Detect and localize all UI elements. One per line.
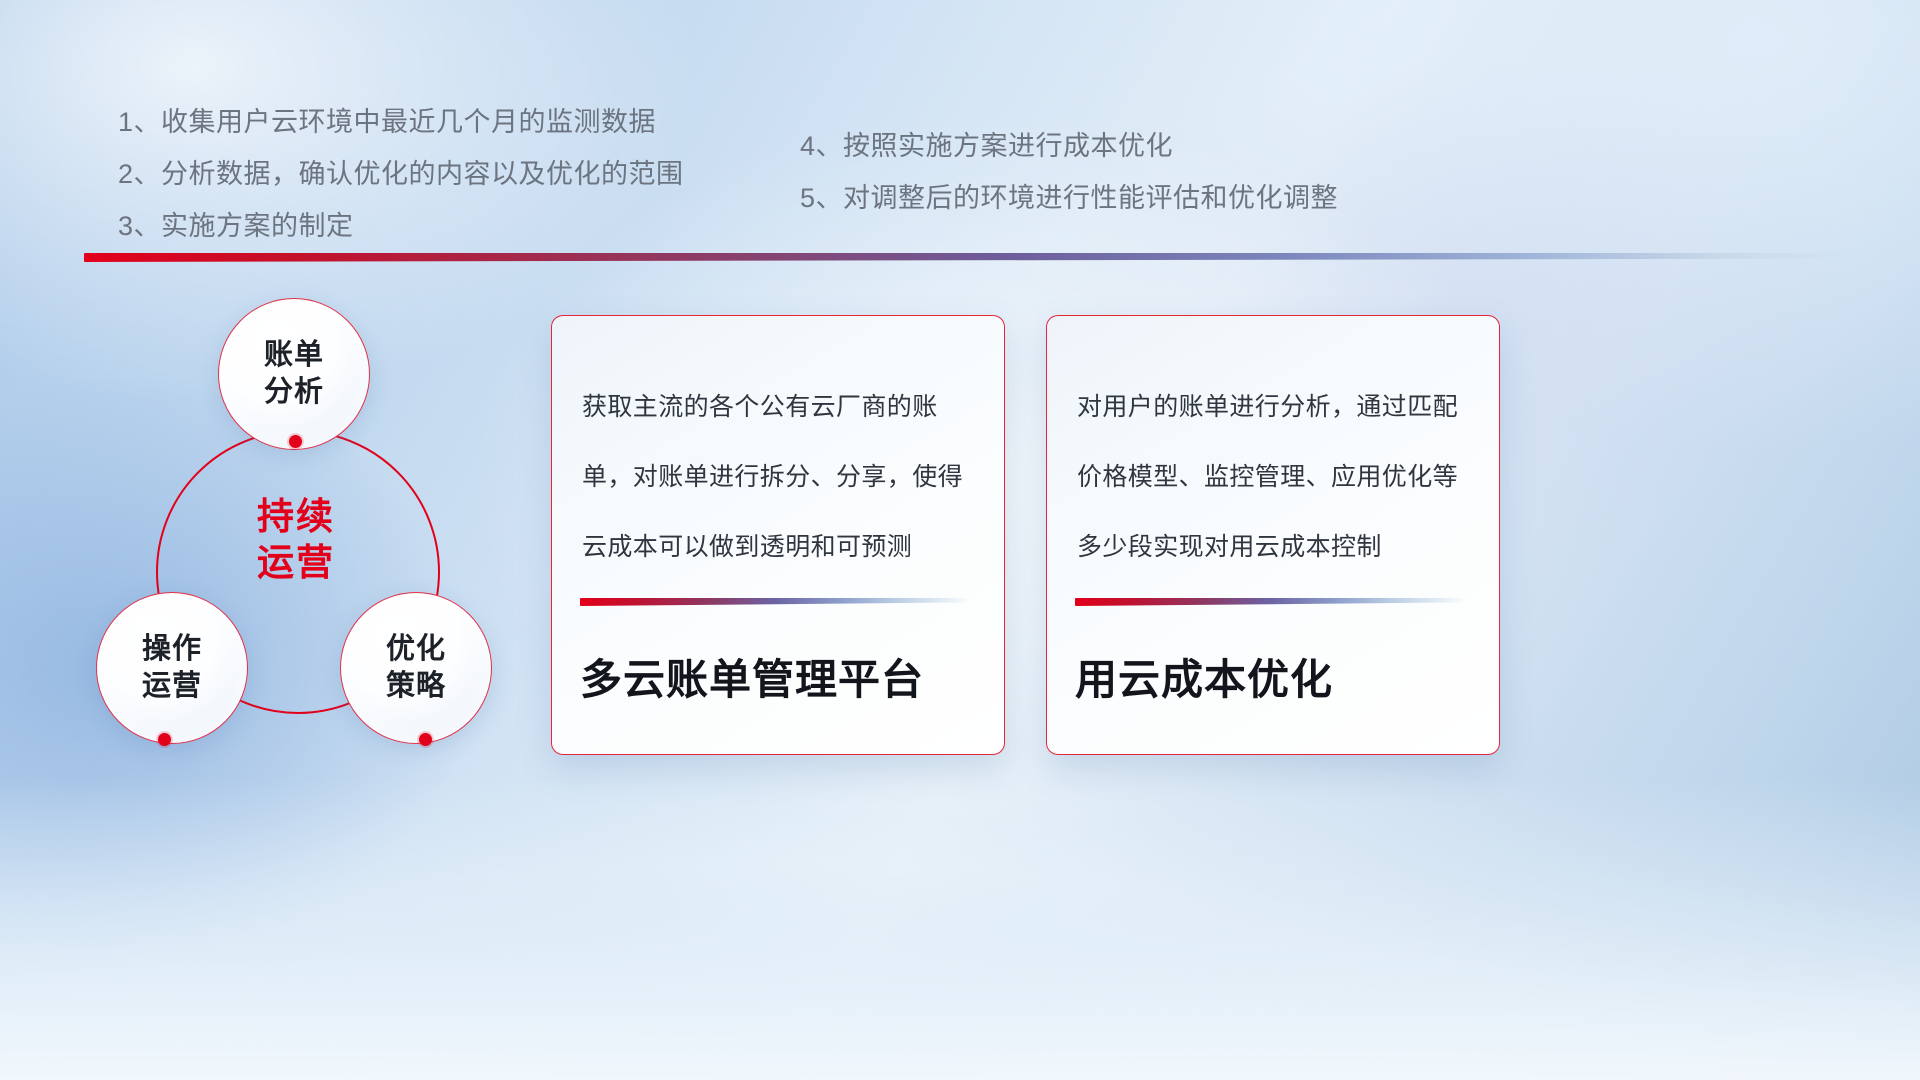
steps-list-left: 1、收集用户云环境中最近几个月的监测数据 2、分析数据，确认优化的内容以及优化的… <box>118 96 838 252</box>
venn-center-label-line2: 运营 <box>257 540 335 586</box>
venn-node-optimization-strategy-line1: 优化 <box>386 631 446 668</box>
venn-node-operations[interactable]: 操作 运营 <box>96 592 248 744</box>
venn-connector-dot-bottom-left <box>158 733 171 746</box>
card-multicloud-billing-platform[interactable]: 获取主流的各个公有云厂商的账单，对账单进行拆分、分享，使得云成本可以做到透明和可… <box>551 315 1005 755</box>
steps-list-right: 4、按照实施方案进行成本优化 5、对调整后的环境进行性能评估和优化调整 <box>800 120 1500 224</box>
card-1-title: 多云账单管理平台 <box>580 646 984 707</box>
card-2-divider-rule <box>1075 598 1467 606</box>
card-1-divider-rule <box>580 598 972 606</box>
venn-connector-dot-bottom-right <box>419 733 432 746</box>
venn-node-operations-line1: 操作 <box>142 631 202 668</box>
card-2-body: 对用户的账单进行分析，通过匹配价格模型、监控管理、应用优化等多少段实现对用云成本… <box>1077 372 1473 582</box>
card-1-body: 获取主流的各个公有云厂商的账单，对账单进行拆分、分享，使得云成本可以做到透明和可… <box>582 372 978 582</box>
venn-diagram: 持续 运营 账单 分析 操作 运营 优化 策略 <box>78 290 548 770</box>
venn-connector-dot-top <box>289 435 302 448</box>
step-item-4: 4、按照实施方案进行成本优化 <box>800 120 1500 172</box>
step-item-2: 2、分析数据，确认优化的内容以及优化的范围 <box>118 148 838 200</box>
venn-node-optimization-strategy[interactable]: 优化 策略 <box>340 592 492 744</box>
step-item-5: 5、对调整后的环境进行性能评估和优化调整 <box>800 172 1500 224</box>
step-item-3: 3、实施方案的制定 <box>118 200 838 252</box>
venn-node-bill-analysis-line2: 分析 <box>264 374 324 411</box>
card-2-title: 用云成本优化 <box>1075 646 1479 707</box>
venn-center-label-line1: 持续 <box>257 494 335 540</box>
venn-node-bill-analysis-line1: 账单 <box>264 337 324 374</box>
venn-node-operations-line2: 运营 <box>142 668 202 705</box>
venn-node-optimization-strategy-line2: 策略 <box>386 668 446 705</box>
step-item-1: 1、收集用户云环境中最近几个月的监测数据 <box>118 96 838 148</box>
venn-center-label: 持续 运营 <box>156 480 436 600</box>
venn-node-bill-analysis[interactable]: 账单 分析 <box>218 298 370 450</box>
card-cloud-cost-optimization[interactable]: 对用户的账单进行分析，通过匹配价格模型、监控管理、应用优化等多少段实现对用云成本… <box>1046 315 1500 755</box>
